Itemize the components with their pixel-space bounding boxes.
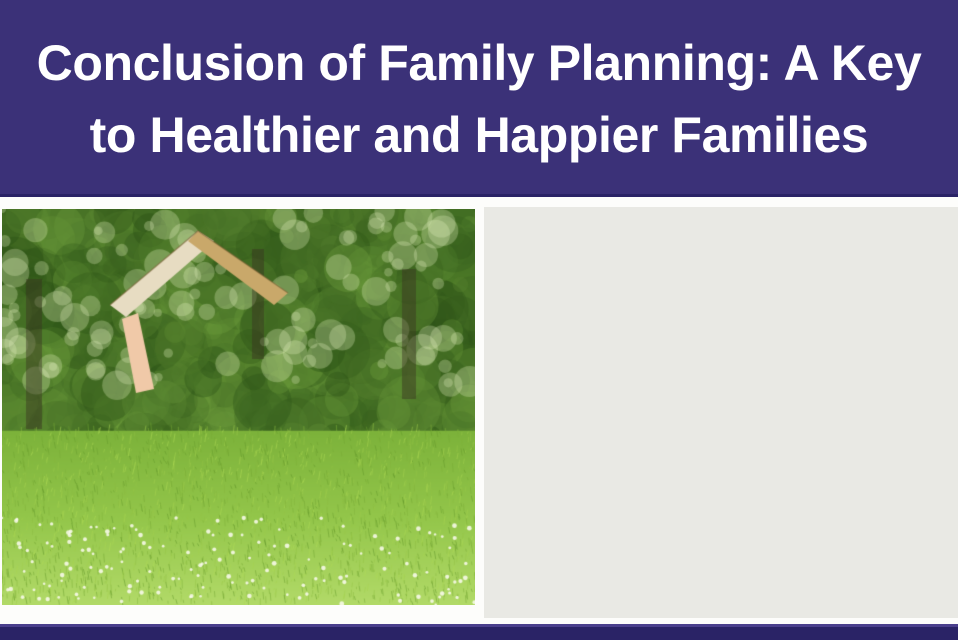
photo-row (0, 200, 958, 624)
header-band: Conclusion of Family Planning: A Key to … (0, 0, 958, 197)
page-title-line-1: Conclusion of Family Planning: A Key (37, 27, 922, 99)
header-bottom-rule (0, 194, 958, 197)
poster-root: Conclusion of Family Planning: A Key to … (0, 0, 958, 640)
family-photo-canvas (2, 209, 475, 605)
clinic-photo-canvas (484, 207, 958, 618)
photo-family-under-cardboard-roof (2, 209, 475, 605)
bottom-accent-strip (0, 624, 958, 640)
photo-couple-at-clinic-reception (484, 207, 958, 618)
page-title-line-2: to Healthier and Happier Families (90, 99, 869, 171)
bottom-strip-sheen (0, 624, 958, 627)
